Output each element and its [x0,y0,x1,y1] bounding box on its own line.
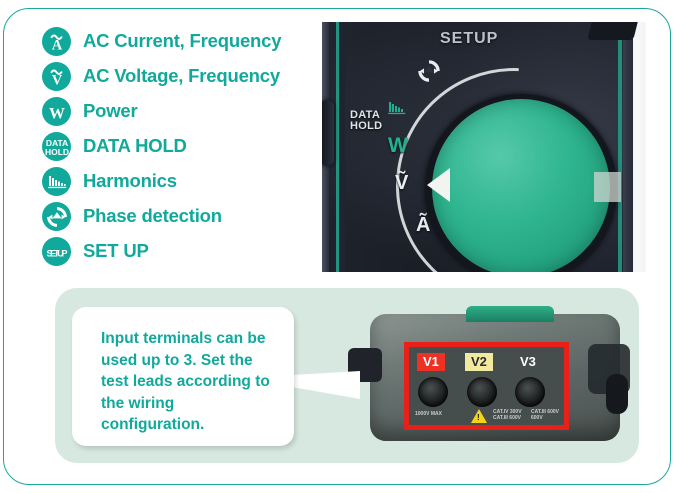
svg-text:HOLD: HOLD [44,147,68,157]
side-button [322,100,334,166]
svg-text:W: W [49,105,65,122]
legend-item-setup: SETUP SET UP [42,234,312,269]
legend-item-harmonics: Harmonics [42,164,312,199]
legend-item-label: DATA HOLD [83,137,187,156]
harmonics-icon [42,167,71,196]
dial-knob-pointer [427,168,450,202]
input-terminals-photo: V1 V2 V3 1000V MAX CAT.IV 300V CAT.III 6… [348,300,638,455]
warning-triangle-icon [471,409,487,423]
callout-bubble: Input terminals can be used up to 3. Set… [72,307,294,446]
terminal-jack-v1[interactable] [418,377,448,407]
terminal-rating-right: CAT.III 600V 600V [531,409,559,421]
terminal-label-v1: V1 [417,353,445,371]
data-hold-icon: DATA HOLD [42,132,71,161]
terminal-label-v2: V2 [465,353,493,371]
svg-text:V: V [51,72,62,87]
dial-phase-detection-icon [416,58,442,89]
power-icon: W [42,97,71,126]
dial-position-v: Ṽ [395,172,408,195]
setup-icon: SETUP [42,237,71,266]
phase-detection-icon [42,202,71,231]
legend-item-label: Phase detection [83,207,222,226]
legend-item-ac-voltage: V AC Voltage, Frequency [42,59,312,94]
dial-harmonics-icon [384,98,410,123]
dial-data-hold-line2: HOLD [350,121,382,132]
terminal-label-v3: V3 [514,353,542,371]
terminal-jack-v3[interactable] [515,377,545,407]
photo-right-margin [633,22,646,272]
terminal-rating-mid: CAT.IV 300V CAT.III 600V [493,409,522,421]
legend-item-power: W Power [42,94,312,129]
rotary-dial-photo: DATA HOLD SETUP [322,22,646,272]
ac-voltage-icon: V [42,62,71,91]
terminals-highlight-box: V1 V2 V3 1000V MAX CAT.IV 300V CAT.III 6… [404,342,569,430]
legend-item-label: Power [83,102,138,121]
legend-item-label: AC Voltage, Frequency [83,67,280,86]
legend-list: A AC Current, Frequency V AC Voltage, Fr… [42,24,312,269]
legend-item-label: AC Current, Frequency [83,32,281,51]
svg-text:SETUP: SETUP [46,248,67,258]
bezel-edge [340,22,345,272]
dial-data-hold-label: DATA HOLD [350,110,382,132]
terminal-jack-v2[interactable] [467,377,497,407]
legend-item-label: SET UP [83,242,149,261]
dial-knob[interactable] [432,99,610,272]
legend-item-data-hold: DATA HOLD DATA HOLD [42,129,312,164]
dial-position-a: Ã [416,214,430,237]
bezel-edge [623,22,633,272]
housing-green-top [466,306,554,322]
bezel-accent-stripe [336,22,339,272]
bezel-accent-stripe [618,22,622,272]
callout-text: Input terminals can be used up to 3. Set… [101,328,281,436]
dial-knob-grip [594,172,621,202]
dial-position-setup: SETUP [440,30,498,48]
dial-position-w: W [388,134,408,158]
legend-item-phase-detection: Phase detection [42,199,312,234]
terminal-rating-left: 1000V MAX [415,411,442,417]
svg-text:A: A [51,37,62,52]
page-root: A AC Current, Frequency V AC Voltage, Fr… [0,0,680,493]
ac-current-icon: A [42,27,71,56]
strap-right-loop [606,374,628,414]
legend-item-ac-current: A AC Current, Frequency [42,24,312,59]
top-connector [587,22,638,40]
legend-item-label: Harmonics [83,172,177,191]
